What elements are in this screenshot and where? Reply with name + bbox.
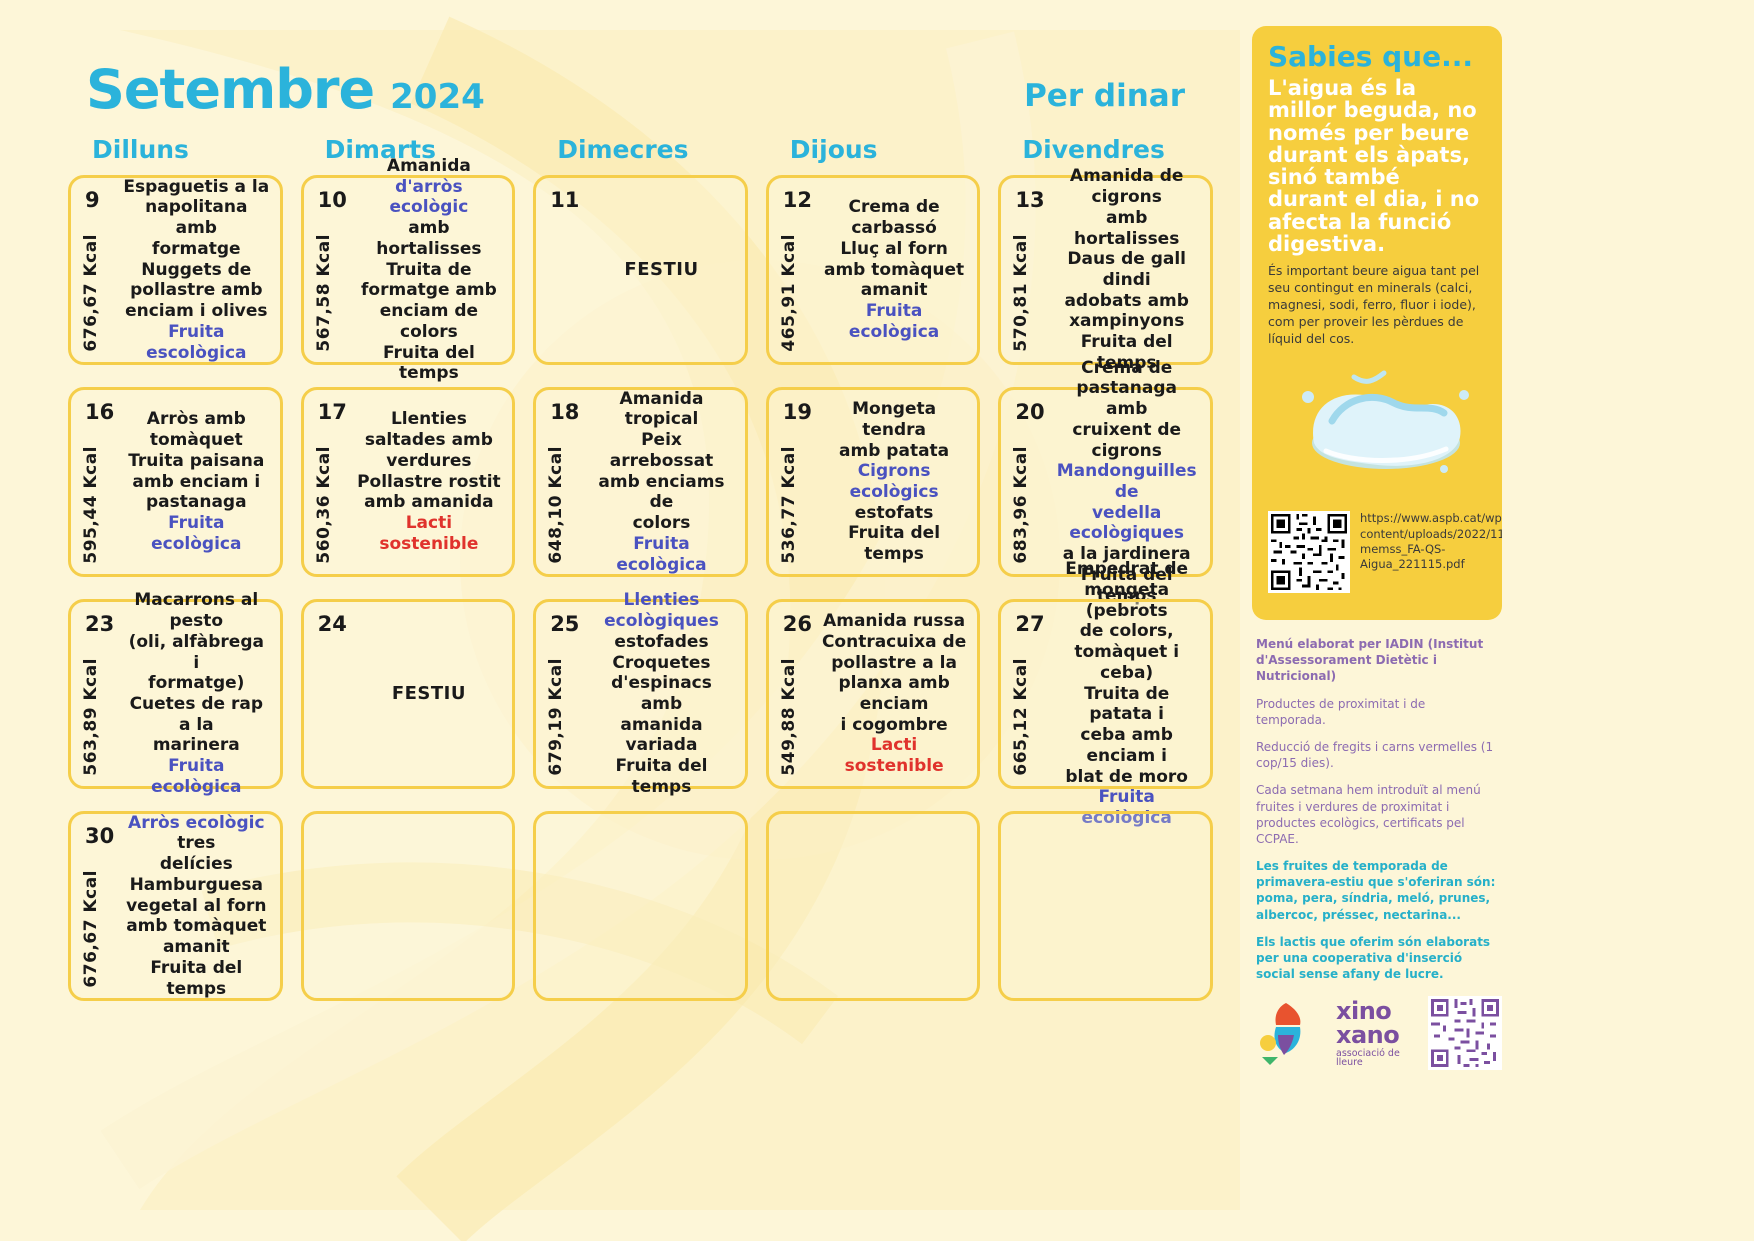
menu-line: tres — [177, 833, 215, 854]
day-menu-text: Amanida d'arròsecològic ambhortalissesTr… — [354, 184, 505, 356]
did-you-know-subtext: És important beure aigua tant pel seu co… — [1268, 263, 1486, 347]
menu-line: estofades — [614, 632, 708, 653]
menu-line: pollastre amb — [130, 280, 262, 301]
day-menu-text: FESTIU — [586, 184, 737, 356]
menu-line: Truita paisana — [128, 451, 264, 472]
day-kcal: 536,77 Kcal — [779, 446, 799, 564]
day-number: 26 — [783, 612, 812, 636]
menu-line: Contracuixa de — [822, 632, 966, 653]
footer-note-2: Productes de proximitat i de temporada. — [1256, 696, 1498, 728]
menu-line: pastanaga — [146, 492, 247, 513]
menu-line: hortalisses — [376, 239, 481, 260]
qr-row: https://www.aspb.cat/wp-content/uploads/… — [1268, 511, 1486, 593]
day-cell-left: 30676,67 Kcal — [79, 820, 121, 992]
menu-line: saltades amb — [365, 430, 493, 451]
logo-row: xino xano associació de lleure — [1252, 996, 1502, 1070]
menu-line: amb patata — [839, 441, 949, 462]
menu-line-eco: ecològic — [389, 197, 468, 218]
menu-line-eco: Llenties — [624, 590, 700, 611]
day-kcal: 563,89 Kcal — [81, 658, 101, 776]
day-menu-text: Arròs ambtomàquetTruita paisanaamb encia… — [121, 396, 272, 568]
day-number: 24 — [318, 612, 347, 636]
day-cell-left: 23563,89 Kcal — [79, 608, 121, 780]
menu-line: ceba amb enciam i — [1053, 725, 1200, 766]
menu-line-eco: Cigrons ecològics — [821, 461, 968, 502]
day-cell-13[interactable]: 13570,81 KcalAmanida de cigronsamb horta… — [998, 175, 1213, 365]
xino-xano-qr-code[interactable] — [1428, 996, 1502, 1070]
menu-line: i cogombre — [841, 715, 948, 736]
weekday-dimecres: Dimecres — [533, 135, 748, 164]
menu-line: de colors, — [1080, 621, 1174, 642]
menu-line: amanida variada — [588, 715, 735, 756]
menu-line: Amanida — [387, 156, 471, 177]
menu-line: enciam i olives — [125, 301, 267, 322]
menu-line: cruixent de — [1072, 420, 1181, 441]
day-menu-text — [1051, 820, 1202, 992]
menu-line-lacti: Lacti sostenible — [356, 513, 503, 554]
day-number: 12 — [783, 188, 812, 212]
day-number: 20 — [1015, 400, 1044, 424]
menu-line: napolitana amb — [123, 197, 270, 238]
menu-line-lacti: Lacti sostenible — [821, 735, 968, 776]
day-cell-left: 13570,81 Kcal — [1009, 184, 1051, 356]
menu-line-eco: Fruita ecològica — [123, 756, 270, 797]
menu-line: Croquetes — [612, 653, 710, 674]
menu-line-eco: Fruita ecològica — [588, 534, 735, 575]
day-cell-26[interactable]: 26549,88 KcalAmanida russaContracuixa de… — [766, 599, 981, 789]
day-cell-left: 20683,96 Kcal — [1009, 396, 1051, 568]
menu-line: Truita de — [386, 260, 471, 281]
day-number: 18 — [550, 400, 579, 424]
day-menu-text — [354, 820, 505, 992]
aspb-url-text: https://www.aspb.cat/wp-content/uploads/… — [1360, 511, 1502, 572]
day-cell-left: 24 — [312, 608, 354, 780]
menu-line: cigrons — [1092, 441, 1162, 462]
menu-line: Crema de — [848, 197, 939, 218]
did-you-know-lead: L'aigua és la millor beguda, no només pe… — [1268, 77, 1486, 255]
day-number: 30 — [85, 824, 114, 848]
weekday-header-row: Dilluns Dimarts Dimecres Dijous Divendre… — [68, 135, 1213, 164]
menu-line: amb — [408, 218, 449, 239]
sidebar: Sabies que... L'aigua és la millor begud… — [1252, 26, 1502, 1070]
day-menu-text: Amanida russaContracuixa depollastre a l… — [819, 608, 970, 780]
menu-line: formatge — [152, 239, 240, 260]
day-menu-text: LlentiesecològiquesestofadesCroquetesd'e… — [586, 608, 737, 780]
logo-line-1: xino — [1336, 999, 1404, 1023]
menu-line: amb enciam i — [132, 472, 260, 493]
menu-line: amb hortalisses — [1053, 208, 1200, 249]
day-kcal: 683,96 Kcal — [1011, 446, 1031, 564]
logo-line-2: xano — [1336, 1023, 1404, 1047]
day-kcal: 567,58 Kcal — [314, 234, 334, 352]
day-cell-left: 18648,10 Kcal — [544, 396, 586, 568]
day-number: 19 — [783, 400, 812, 424]
menu-line-eco: Mandonguilles de — [1053, 461, 1200, 502]
holiday-label: FESTIU — [392, 683, 466, 705]
day-kcal: 665,12 Kcal — [1011, 658, 1031, 776]
weekday-dilluns: Dilluns — [68, 135, 283, 164]
day-cell-20[interactable]: 20683,96 KcalCrema depastanaga ambcruixe… — [998, 387, 1213, 577]
menu-line: amb tomàquet — [126, 916, 266, 937]
aspb-qr-code[interactable] — [1268, 511, 1350, 593]
day-cell-left: 10567,58 Kcal — [312, 184, 354, 356]
day-number: 25 — [550, 612, 579, 636]
day-number: 17 — [318, 400, 347, 424]
week-row: 9676,67 KcalEspaguetis a lanapolitana am… — [68, 175, 1213, 365]
day-kcal: 570,81 Kcal — [1011, 234, 1031, 352]
day-kcal: 679,19 Kcal — [546, 658, 566, 776]
day-number: 10 — [318, 188, 347, 212]
calendar-title: Setembre 2024 — [86, 58, 485, 121]
menu-line: Fruita del temps — [356, 343, 503, 384]
year-title: 2024 — [390, 77, 485, 117]
menu-line: formatge) — [148, 673, 244, 694]
calendar-weeks: 9676,67 KcalEspaguetis a lanapolitana am… — [68, 175, 1213, 1023]
menu-line: Macarrons al pesto — [123, 590, 270, 631]
xino-xano-logo-icon — [1256, 1001, 1312, 1065]
day-cell-left: 27665,12 Kcal — [1009, 608, 1051, 780]
menu-line: Amanida russa — [823, 611, 965, 632]
menu-line-eco: ecològiques — [604, 611, 719, 632]
day-cell-left — [777, 820, 819, 992]
menu-line: vegetal al forn — [126, 896, 266, 917]
menu-line: Amanida tropical — [588, 389, 735, 430]
menu-line: Hamburguesa — [130, 875, 263, 896]
menu-line: formatge amb — [361, 280, 497, 301]
day-menu-text: Amanida tropicalPeix arrebossatamb encia… — [586, 396, 737, 568]
day-cell-left: 19536,77 Kcal — [777, 396, 819, 568]
footer-note-4: Cada setmana hem introduït al menú fruit… — [1256, 782, 1498, 847]
did-you-know-box: Sabies que... L'aigua és la millor begud… — [1252, 26, 1502, 620]
menu-line: amb amanida — [364, 492, 494, 513]
menu-line: colors — [633, 513, 691, 534]
menu-line: Daus de gall dindi — [1053, 249, 1200, 290]
menu-line: Fruita del temps — [588, 756, 735, 797]
did-you-know-title: Sabies que... — [1268, 40, 1486, 73]
footer-note-5: Les fruites de temporada de primavera-es… — [1256, 858, 1498, 923]
menu-line: planxa amb enciam — [821, 673, 968, 714]
day-number: 23 — [85, 612, 114, 636]
day-menu-text — [819, 820, 970, 992]
day-cell-19[interactable]: 19536,77 KcalMongeta tendraamb patataCig… — [766, 387, 981, 577]
day-cell-27[interactable]: 27665,12 KcalEmpedrat demongeta (pebrots… — [998, 599, 1213, 789]
menu-line: estofats — [855, 503, 934, 524]
day-number: 13 — [1015, 188, 1044, 212]
menu-line: enciam de colors — [356, 301, 503, 342]
week-row: 23563,89 KcalMacarrons al pesto(oli, alf… — [68, 599, 1213, 789]
week-row: 30676,67 KcalArròs ecològic tresdelícies… — [68, 811, 1213, 1001]
day-number: 16 — [85, 400, 114, 424]
day-kcal: 676,67 Kcal — [81, 870, 101, 988]
footer-note-1: Menú elaborat per IADIN (Institut d'Asse… — [1256, 636, 1498, 685]
menu-line: amb tomàquet — [824, 260, 964, 281]
day-cell-empty — [766, 811, 981, 1001]
menu-line: Crema de — [1081, 358, 1172, 379]
day-cell-24[interactable]: 24FESTIU — [301, 599, 516, 789]
menu-line: (oli, alfàbrega i — [123, 632, 270, 673]
menu-line: xampinyons — [1069, 311, 1184, 332]
menu-line: Nuggets de — [141, 260, 251, 281]
menu-line: marinera — [153, 735, 240, 756]
month-title: Setembre — [86, 58, 374, 121]
menu-line: Arròs amb — [147, 409, 246, 430]
menu-line: mongeta (pebrots — [1053, 580, 1200, 621]
day-menu-text: FESTIU — [354, 608, 505, 780]
xino-xano-logo-text: xino xano associació de lleure — [1336, 999, 1404, 1068]
menu-line: Mongeta tendra — [821, 399, 968, 440]
day-cell-11[interactable]: 11FESTIU — [533, 175, 748, 365]
day-menu-text — [586, 820, 737, 992]
day-number: 9 — [85, 188, 100, 212]
day-cell-30[interactable]: 30676,67 KcalArròs ecològic tresdelícies… — [68, 811, 283, 1001]
day-cell-left: 16595,44 Kcal — [79, 396, 121, 568]
day-cell-18[interactable]: 18648,10 KcalAmanida tropicalPeix arrebo… — [533, 387, 748, 577]
day-kcal: 648,10 Kcal — [546, 446, 566, 564]
day-cell-left: 9676,67 Kcal — [79, 184, 121, 356]
menu-line: pastanaga amb — [1053, 378, 1200, 419]
holiday-label: FESTIU — [624, 259, 698, 281]
menu-line: amb enciams de — [588, 472, 735, 513]
day-cell-empty — [301, 811, 516, 1001]
menu-line-eco: Fruita ecològica — [821, 301, 968, 342]
menu-line: blat de moro — [1065, 767, 1188, 788]
day-menu-text: Macarrons al pesto(oli, alfàbrega iforma… — [121, 608, 272, 780]
day-number: 27 — [1015, 612, 1044, 636]
day-cell-empty — [998, 811, 1213, 1001]
menu-line: carbassó — [851, 218, 937, 239]
day-cell-left: 26549,88 Kcal — [777, 608, 819, 780]
day-number: 11 — [550, 188, 579, 212]
day-cell-10[interactable]: 10567,58 KcalAmanida d'arròsecològic amb… — [301, 175, 516, 365]
day-menu-text: Empedrat demongeta (pebrotsde colors,tom… — [1051, 608, 1202, 780]
menu-line: verdures — [386, 451, 471, 472]
day-kcal: 560,36 Kcal — [314, 446, 334, 564]
menu-line-eco: Fruita escològica — [123, 322, 270, 363]
day-cell-17[interactable]: 17560,36 KcalLlentiessaltades ambverdure… — [301, 387, 516, 577]
day-cell-9[interactable]: 9676,67 KcalEspaguetis a lanapolitana am… — [68, 175, 283, 365]
menu-line: pollastre a la — [831, 653, 957, 674]
day-cell-left — [544, 820, 586, 992]
week-row: 16595,44 KcalArròs ambtomàquetTruita pai… — [68, 387, 1213, 577]
day-cell-25[interactable]: 25679,19 KcalLlentiesecològiquesestofade… — [533, 599, 748, 789]
menu-line: Truita de patata i — [1053, 684, 1200, 725]
day-menu-text: Mongeta tendraamb patataCigrons ecològic… — [819, 396, 970, 568]
day-cell-empty — [533, 811, 748, 1001]
logo-tagline: associació de lleure — [1336, 1049, 1404, 1068]
menu-line-eco: vedella ecològiques — [1053, 503, 1200, 544]
menu-line: amanit — [861, 280, 928, 301]
footer-note-3: Reducció de fregits i carns vermelles (1… — [1256, 739, 1498, 771]
day-cell-left: 11 — [544, 184, 586, 356]
menu-line: Llenties — [391, 409, 467, 430]
menu-line: Peix arrebossat — [588, 430, 735, 471]
menu-line: Fruita del temps — [123, 958, 270, 999]
weekday-divendres: Divendres — [998, 135, 1213, 164]
day-kcal: 465,91 Kcal — [779, 234, 799, 352]
day-menu-text: Crema depastanaga ambcruixent decigronsM… — [1051, 396, 1202, 568]
menu-line: Cuetes de rap a la — [123, 694, 270, 735]
menu-line-eco: d'arròs — [395, 177, 462, 198]
menu-line: tomàquet i ceba) — [1053, 642, 1200, 683]
menu-line: amanit — [163, 937, 230, 958]
footer-notes: Menú elaborat per IADIN (Institut d'Asse… — [1252, 636, 1502, 982]
day-cell-left: 17560,36 Kcal — [312, 396, 354, 568]
day-cell-23[interactable]: 23563,89 KcalMacarrons al pesto(oli, alf… — [68, 599, 283, 789]
day-kcal: 676,67 Kcal — [81, 234, 101, 352]
day-cell-left: 25679,19 Kcal — [544, 608, 586, 780]
day-cell-16[interactable]: 16595,44 KcalArròs ambtomàquetTruita pai… — [68, 387, 283, 577]
menu-line: Lluç al forn — [840, 239, 948, 260]
footer-note-6: Els lactis que oferim són elaborats per … — [1256, 934, 1498, 983]
day-cell-left — [1009, 820, 1051, 992]
menu-line: d'espinacs amb — [588, 673, 735, 714]
menu-line-eco: Fruita ecològica — [123, 513, 270, 554]
calendar-area: Setembre 2024 Per dinar Dilluns Dimarts … — [0, 0, 1245, 1241]
day-menu-text: Llentiessaltades ambverduresPollastre ro… — [354, 396, 505, 568]
menu-line: Fruita del temps — [821, 523, 968, 564]
menu-line-eco: Arròs ecològic — [128, 813, 265, 834]
menu-line: Espaguetis a la — [123, 177, 269, 198]
menu-line: delícies — [160, 854, 233, 875]
menu-line: adobats amb — [1064, 291, 1188, 312]
menu-line: tomàquet — [150, 430, 243, 451]
day-cell-left — [312, 820, 354, 992]
day-kcal: 549,88 Kcal — [779, 658, 799, 776]
meal-label: Per dinar — [1024, 78, 1185, 114]
water-splash-image — [1268, 351, 1488, 501]
menu-line: Amanida de cigrons — [1053, 166, 1200, 207]
menu-line: Empedrat de — [1065, 559, 1188, 580]
weekday-dijous: Dijous — [766, 135, 981, 164]
day-menu-text: Amanida de cigronsamb hortalissesDaus de… — [1051, 184, 1202, 356]
day-menu-text: Espaguetis a lanapolitana ambformatgeNug… — [121, 184, 272, 356]
menu-line: Pollastre rostit — [357, 472, 501, 493]
day-kcal: 595,44 Kcal — [81, 446, 101, 564]
day-cell-12[interactable]: 12465,91 KcalCrema decarbassóLluç al for… — [766, 175, 981, 365]
day-cell-left: 12465,91 Kcal — [777, 184, 819, 356]
day-menu-text: Arròs ecològic tresdelíciesHamburguesave… — [121, 820, 272, 992]
day-menu-text: Crema decarbassóLluç al fornamb tomàquet… — [819, 184, 970, 356]
